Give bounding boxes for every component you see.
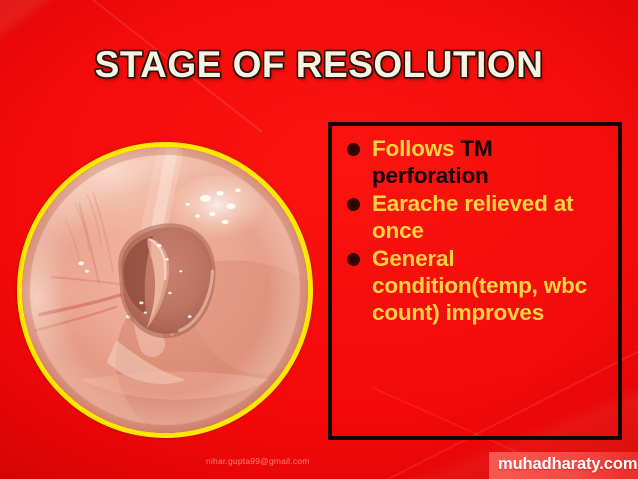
list-item: Earache relieved at once — [346, 190, 612, 244]
slide-title: STAGE OF RESOLUTION — [0, 44, 638, 86]
brand-watermark: muhadharaty.com — [498, 455, 637, 474]
email-watermark: nihar.gupta99@gmail.com — [206, 456, 309, 466]
otoscopic-image — [22, 147, 308, 433]
content-textbox: Follows TM perforation Earache relieved … — [328, 122, 622, 440]
slide-canvas: STAGE OF RESOLUTION — [0, 0, 638, 479]
otoscopic-image-frame — [17, 142, 313, 438]
bullet-list: Follows TM perforation Earache relieved … — [332, 126, 618, 326]
fisheye-bullet-icon — [347, 143, 360, 156]
bullet-1-segment-1: Follows — [372, 136, 460, 161]
list-item: Follows TM perforation — [346, 135, 612, 189]
fisheye-bullet-icon — [347, 253, 360, 266]
list-item: General condition(temp, wbc count) impro… — [346, 245, 612, 326]
fisheye-bullet-icon — [347, 198, 360, 211]
bullet-2-segment-1: Earache relieved at once — [372, 191, 573, 243]
bullet-3-segment-1: General condition(temp, wbc count) impro… — [372, 246, 587, 325]
